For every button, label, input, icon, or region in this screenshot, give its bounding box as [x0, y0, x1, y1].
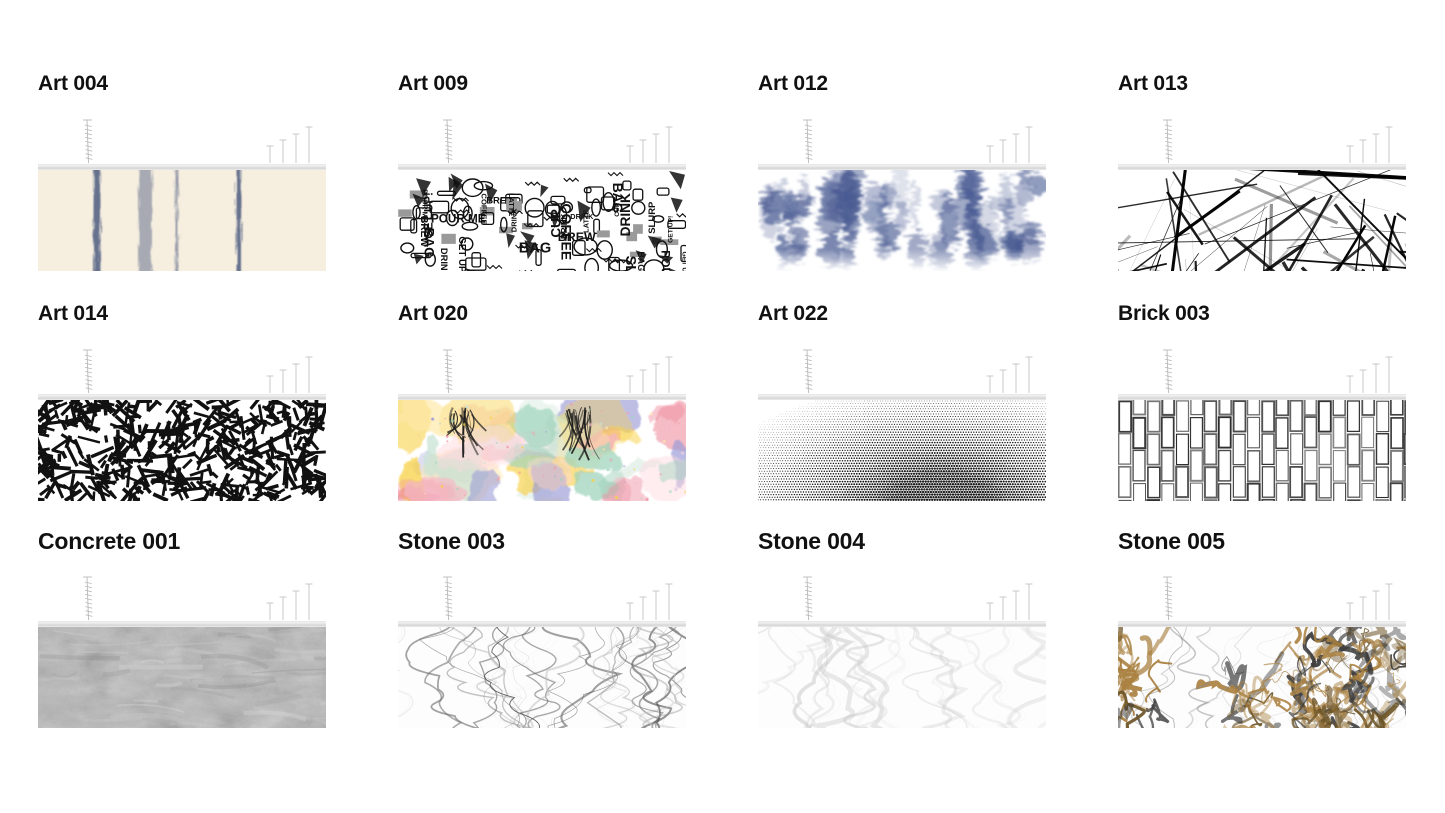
pin-cluster-icon	[267, 127, 313, 163]
swatch-title: Art 004	[38, 72, 398, 96]
screw-hook-icon	[83, 350, 92, 393]
swatch-pattern-coffee-doodle-line-art[interactable]: BREWBAGGET UP!POUR MEPOUR MEBREWGET UP!D…	[398, 170, 686, 271]
pin-cluster-icon	[627, 584, 673, 620]
svg-text:BAG: BAG	[519, 241, 551, 257]
hanging-hardware-area	[398, 346, 686, 394]
pin-cluster-icon	[627, 357, 673, 393]
svg-text:SLURP: SLURP	[647, 201, 658, 234]
screw-hook-icon	[443, 350, 452, 393]
swatch-card-art-013[interactable]: Art 013	[1118, 72, 1445, 302]
swatch-title-wrap: Art 014	[38, 302, 398, 346]
swatch-title-wrap: Art 020	[398, 302, 758, 346]
screw-hook-icon	[443, 577, 452, 620]
swatch-card-stone-004[interactable]: Stone 004	[758, 529, 1118, 759]
screw-hook-icon	[803, 350, 812, 393]
swatch-title-wrap: Art 009	[398, 72, 758, 116]
screw-hook-icon	[83, 577, 92, 620]
svg-text:GET UP!: GET UP!	[668, 216, 675, 243]
hanging-hardware-area	[758, 346, 1046, 394]
swatch-pattern-scattered-dashes[interactable]	[38, 400, 326, 501]
svg-text:COFFEE: COFFEE	[559, 203, 575, 260]
pin-cluster-icon	[267, 584, 313, 620]
swatch-card-stone-003[interactable]: Stone 003	[398, 529, 758, 759]
swatch-pattern-vertical-running-bond-brick[interactable]	[1118, 400, 1406, 501]
swatch-title: Stone 005	[1118, 529, 1445, 553]
swatch-title-wrap: Art 013	[1118, 72, 1445, 116]
swatch-title: Art 020	[398, 302, 758, 326]
swatch-title: Art 014	[38, 302, 398, 326]
swatch-title-wrap: Stone 004	[758, 529, 1118, 573]
swatch-card-art-014[interactable]: Art 014	[38, 302, 398, 529]
swatch-card-stone-005[interactable]: Stone 005	[1118, 529, 1445, 759]
svg-text:DRINK: DRINK	[439, 248, 449, 271]
swatch-pattern-shibori-vertical-indigo[interactable]	[38, 170, 326, 271]
screw-hook-icon	[443, 120, 452, 163]
screw-hook-icon	[83, 120, 92, 163]
svg-text:POUR ME: POUR ME	[431, 213, 486, 226]
swatch-title: Art 012	[758, 72, 1118, 96]
hanging-hardware-area	[398, 573, 686, 621]
swatch-gallery: Art 004Art 009BREWBAGGET UP!POUR MEPOUR …	[0, 0, 1445, 813]
swatch-pattern-marble-grey-veins[interactable]	[398, 627, 686, 728]
swatch-title-wrap: Art 012	[758, 72, 1118, 116]
swatch-title-wrap: Art 022	[758, 302, 1118, 346]
hanging-hardware-area	[758, 573, 1046, 621]
pin-cluster-icon	[267, 357, 313, 393]
hanging-hardware	[1118, 573, 1406, 621]
svg-text:COFFEE: COFFEE	[479, 193, 488, 224]
swatch-title: Art 013	[1118, 72, 1445, 96]
pin-cluster-icon	[987, 584, 1033, 620]
swatch-pattern-shibori-cloud-indigo[interactable]	[758, 170, 1046, 271]
swatch-title: Stone 004	[758, 529, 1118, 553]
swatch-title: Brick 003	[1118, 302, 1445, 326]
swatch-pattern-random-crossing-lines[interactable]	[1118, 170, 1406, 271]
swatch-pattern-marble-gold-veins[interactable]	[1118, 627, 1406, 728]
svg-text:GET UP!: GET UP!	[680, 252, 686, 272]
swatch-title-wrap: Concrete 001	[38, 529, 398, 573]
svg-text:DRINK: DRINK	[510, 208, 519, 232]
pin-cluster-icon	[1347, 127, 1393, 163]
screw-hook-icon	[803, 577, 812, 620]
svg-text:GET UP!: GET UP!	[456, 236, 467, 271]
hanging-hardware-area	[38, 116, 326, 164]
pin-cluster-icon	[987, 127, 1033, 163]
swatch-card-concrete-001[interactable]: Concrete 001	[38, 529, 398, 759]
hanging-hardware-area	[1118, 346, 1406, 394]
swatch-pattern-concrete-plaster-grey[interactable]	[38, 627, 326, 728]
screw-hook-icon	[803, 120, 812, 163]
svg-text:DRINK: DRINK	[618, 193, 633, 236]
hanging-hardware-area	[38, 573, 326, 621]
swatch-card-art-009[interactable]: Art 009BREWBAGGET UP!POUR MEPOUR MEBREWG…	[398, 72, 758, 302]
hanging-hardware	[38, 573, 326, 621]
pin-cluster-icon	[1347, 584, 1393, 620]
hanging-hardware	[398, 573, 686, 621]
swatch-title: Art 022	[758, 302, 1118, 326]
hanging-hardware-area	[1118, 116, 1406, 164]
svg-text:GET UP!: GET UP!	[424, 192, 436, 239]
svg-text:POUR ME: POUR ME	[659, 250, 673, 271]
swatch-card-art-004[interactable]: Art 004	[38, 72, 398, 302]
screw-hook-icon	[1163, 577, 1172, 620]
hanging-hardware	[758, 573, 1046, 621]
svg-text:LATTE: LATTE	[582, 209, 591, 232]
hanging-hardware-area	[758, 116, 1046, 164]
swatch-title-wrap: Stone 005	[1118, 529, 1445, 573]
hanging-hardware	[38, 346, 326, 394]
hanging-hardware	[398, 346, 686, 394]
swatch-title: Stone 003	[398, 529, 758, 553]
hanging-hardware-area	[398, 116, 686, 164]
hanging-hardware	[38, 116, 326, 164]
swatch-card-art-020[interactable]: Art 020	[398, 302, 758, 529]
swatch-grid: Art 004Art 009BREWBAGGET UP!POUR MEPOUR …	[0, 0, 1445, 759]
hanging-hardware-area	[1118, 573, 1406, 621]
hanging-hardware-area	[38, 346, 326, 394]
swatch-card-art-012[interactable]: Art 012	[758, 72, 1118, 302]
swatch-title-wrap: Stone 003	[398, 529, 758, 573]
hanging-hardware	[758, 116, 1046, 164]
swatch-pattern-marble-soft-grey[interactable]	[758, 627, 1046, 728]
swatch-title: Art 009	[398, 72, 758, 96]
hanging-hardware	[1118, 116, 1406, 164]
pin-cluster-icon	[627, 127, 673, 163]
hanging-hardware	[398, 116, 686, 164]
swatch-card-art-022[interactable]: Art 022	[758, 302, 1118, 529]
swatch-title-wrap: Brick 003	[1118, 302, 1445, 346]
screw-hook-icon	[1163, 350, 1172, 393]
swatch-card-brick-003[interactable]: Brick 003	[1118, 302, 1445, 529]
screw-hook-icon	[1163, 120, 1172, 163]
swatch-pattern-watercolor-splash[interactable]	[398, 400, 686, 501]
pin-cluster-icon	[987, 357, 1033, 393]
swatch-title: Concrete 001	[38, 529, 398, 553]
swatch-title-wrap: Art 004	[38, 72, 398, 116]
hanging-hardware	[1118, 346, 1406, 394]
hanging-hardware	[758, 346, 1046, 394]
swatch-pattern-halftone-dot-gradient[interactable]	[758, 400, 1046, 501]
svg-text:SLURP: SLURP	[622, 256, 638, 271]
pin-cluster-icon	[1347, 357, 1393, 393]
